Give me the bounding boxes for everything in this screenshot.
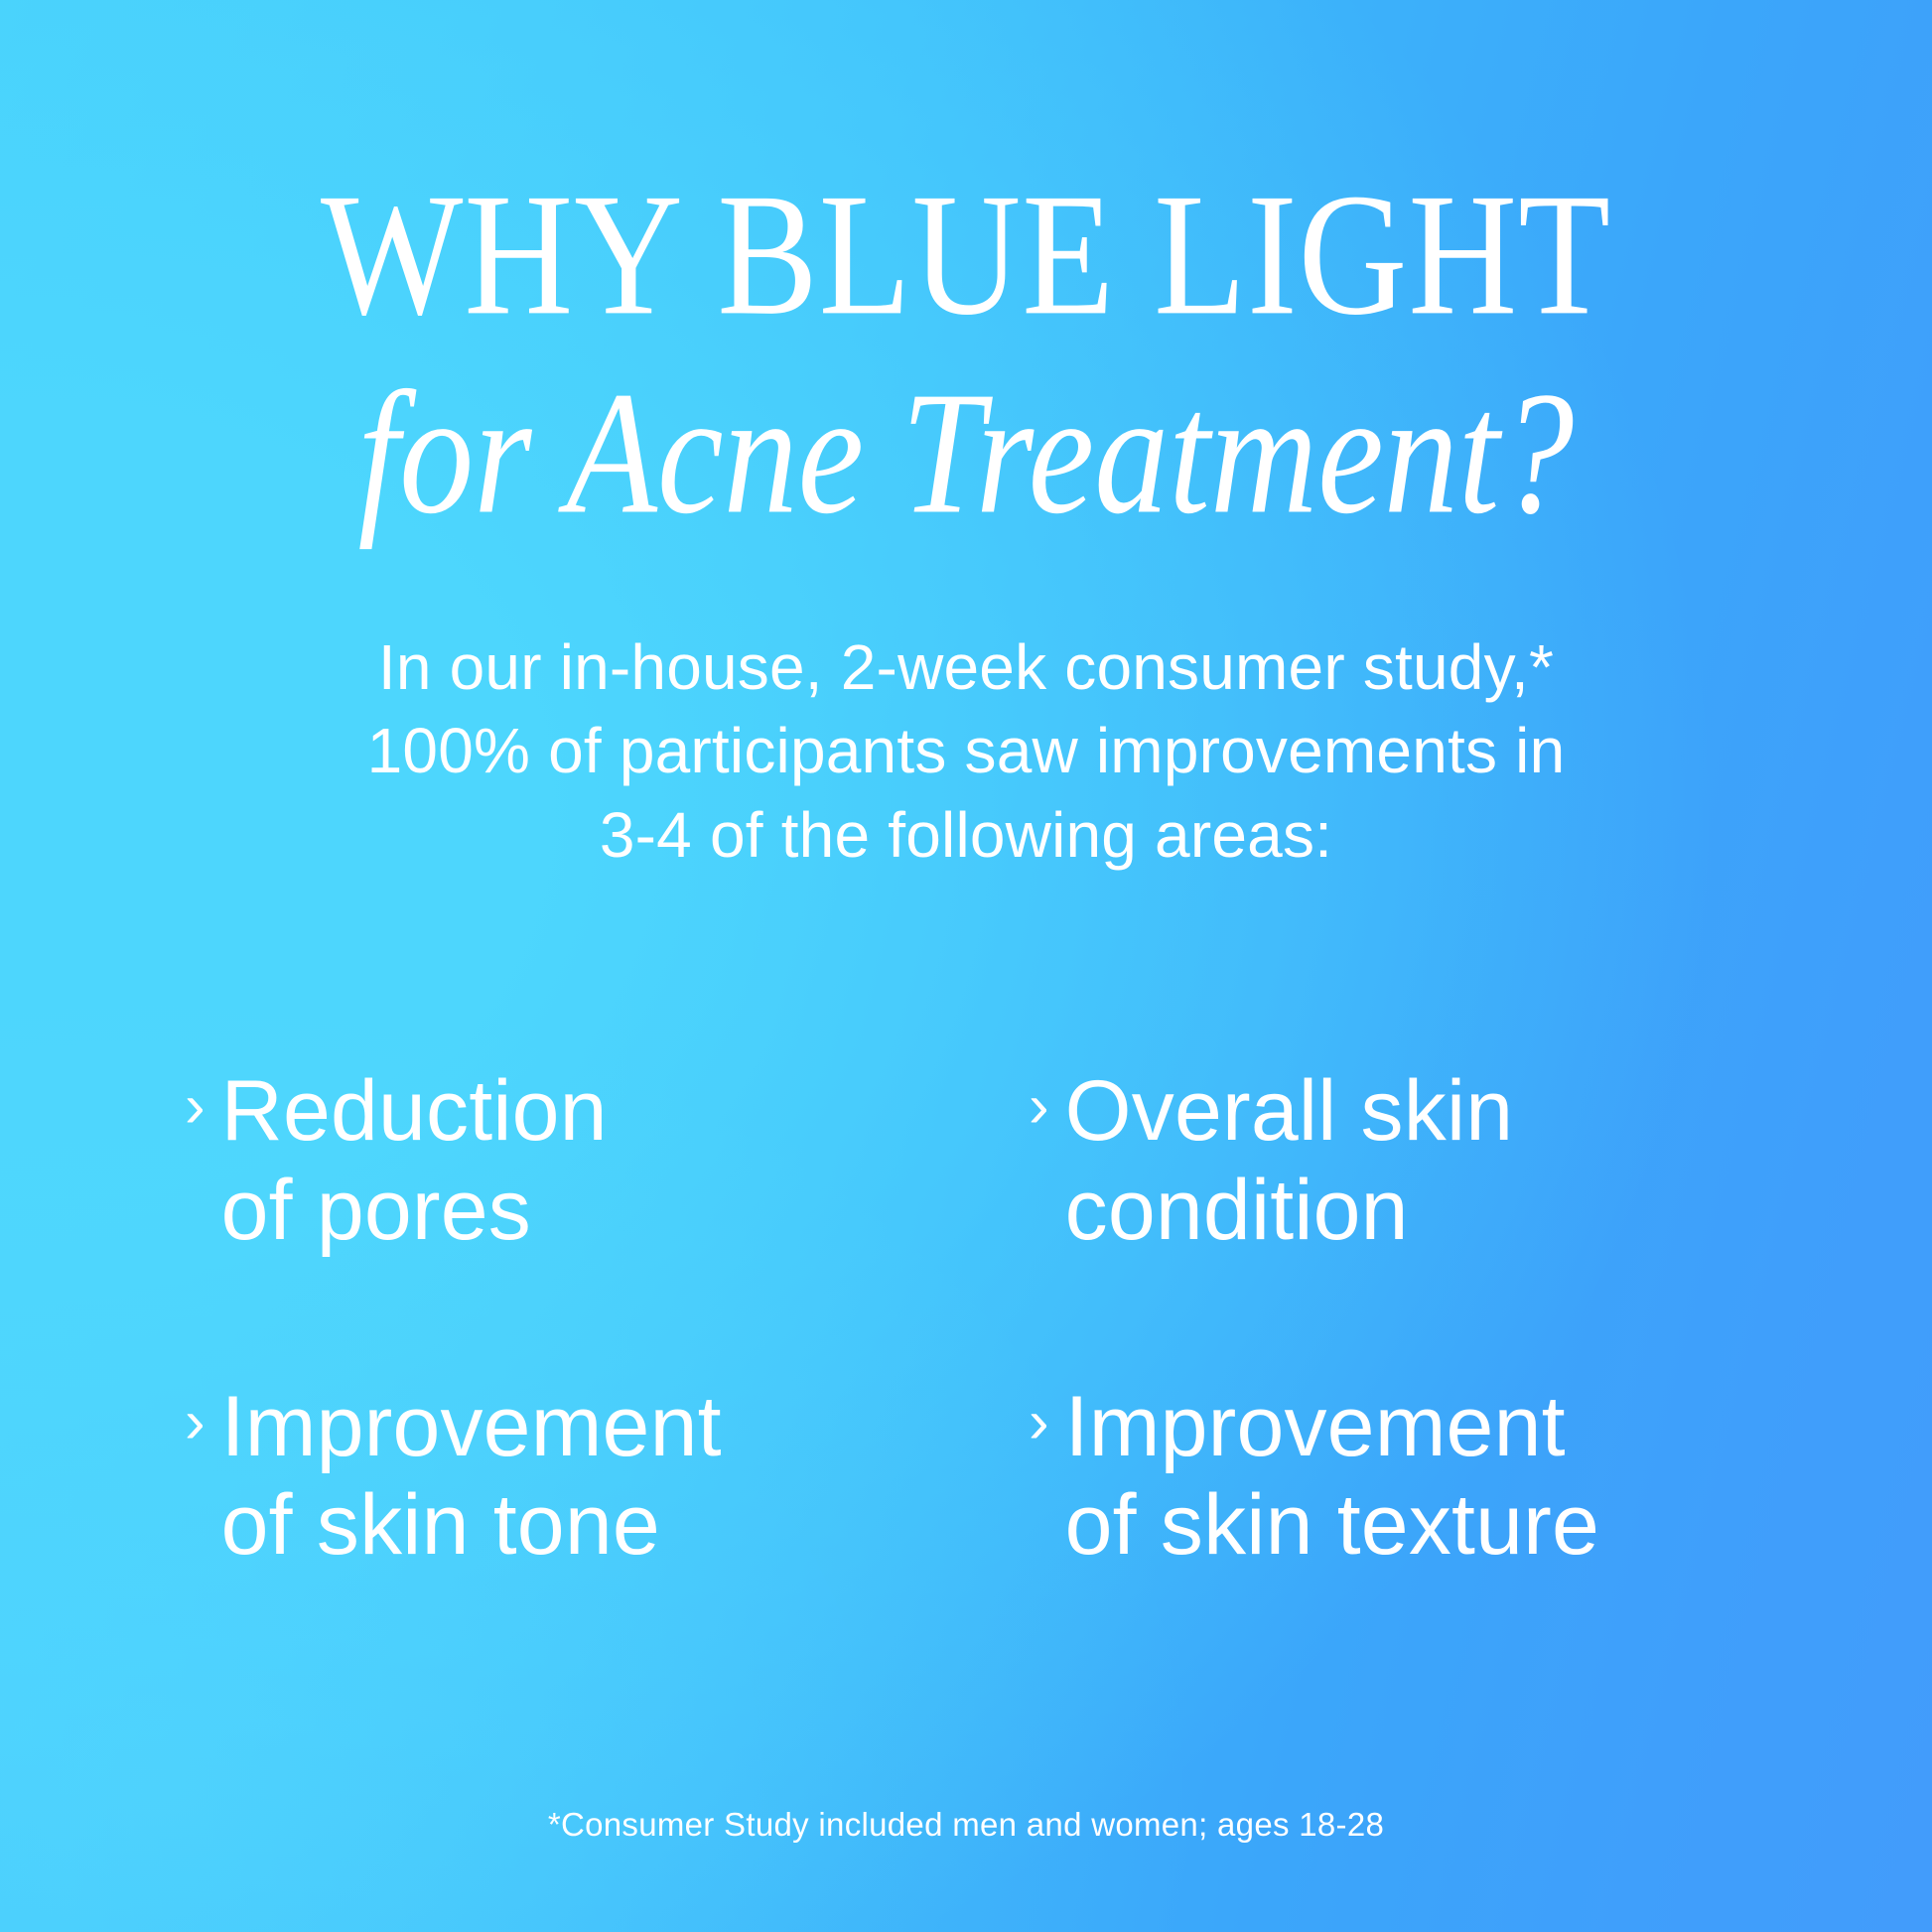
- headline-secondary: for Acne Treatment?: [0, 365, 1932, 541]
- footnote-text: *Consumer Study included men and women; …: [0, 1805, 1932, 1845]
- benefits-list: › Reduction of pores › Overall skin cond…: [185, 1062, 1813, 1576]
- headline-primary: WHY BLUE LIGHT: [0, 167, 1932, 342]
- list-item-label: Improvement of skin texture: [1065, 1378, 1599, 1577]
- chevron-right-icon: ›: [1029, 1378, 1049, 1453]
- list-item-label: Reduction of pores: [221, 1062, 608, 1261]
- intro-paragraph: In our in-house, 2-week consumer study,*…: [192, 625, 1740, 877]
- list-item-label: Improvement of skin tone: [221, 1378, 722, 1577]
- list-item-label: Overall skin condition: [1065, 1062, 1514, 1261]
- headline-block: WHY BLUE LIGHT for Acne Treatment?: [0, 167, 1932, 514]
- intro-line-2: 100% of participants saw improvements in: [192, 709, 1740, 792]
- chevron-right-icon: ›: [1029, 1062, 1049, 1138]
- list-item: › Reduction of pores: [185, 1062, 969, 1261]
- chevron-right-icon: ›: [185, 1062, 206, 1138]
- list-item: › Overall skin condition: [1029, 1062, 1813, 1261]
- chevron-right-icon: ›: [185, 1378, 206, 1453]
- promo-poster: WHY BLUE LIGHT for Acne Treatment? In ou…: [0, 0, 1932, 1932]
- intro-line-1: In our in-house, 2-week consumer study,*: [192, 625, 1740, 709]
- list-item: › Improvement of skin texture: [1029, 1378, 1813, 1577]
- list-item: › Improvement of skin tone: [185, 1378, 969, 1577]
- intro-line-3: 3-4 of the following areas:: [192, 793, 1740, 877]
